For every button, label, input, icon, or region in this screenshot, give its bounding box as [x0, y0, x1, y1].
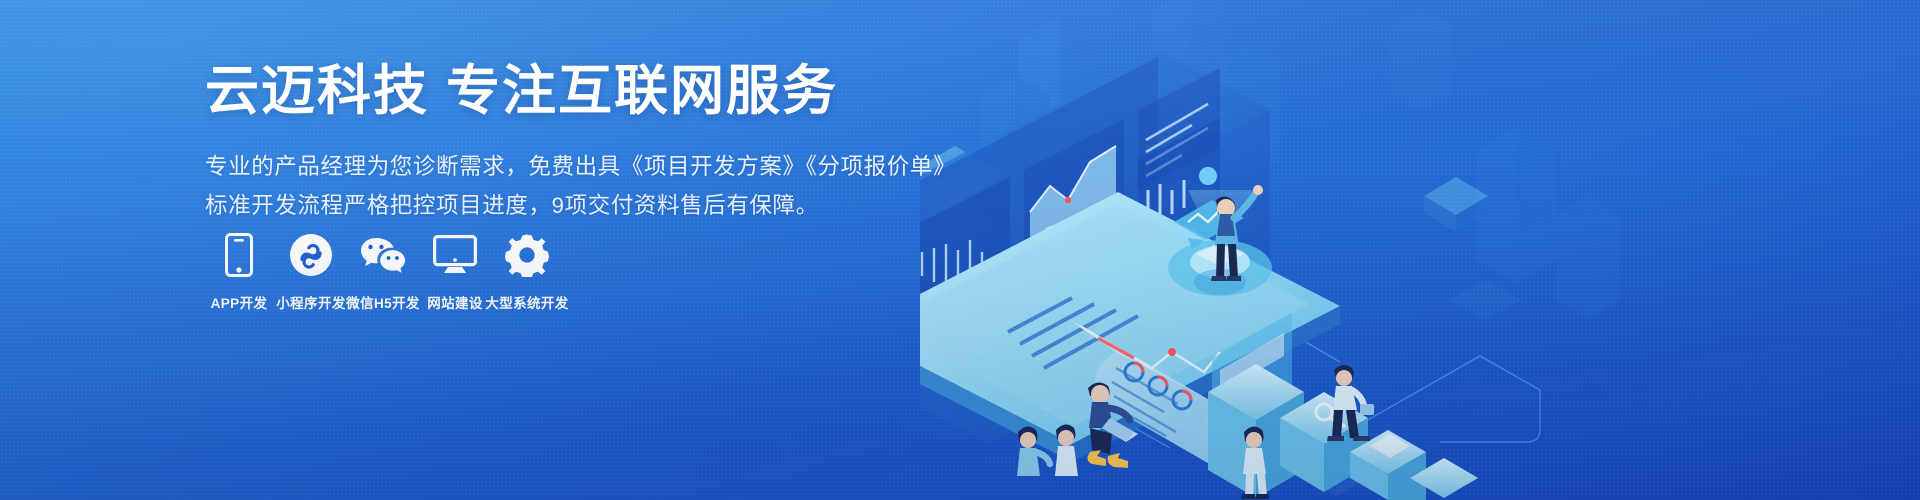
hero-copy: 云迈科技 专注互联网服务 专业的产品经理为您诊断需求，免费出具《项目开发方案》《…	[205, 60, 965, 225]
service-list: APP开发 小程序开发	[203, 232, 563, 312]
hero-banner: 云迈科技 专注互联网服务 专业的产品经理为您诊断需求，免费出具《项目开发方案》《…	[0, 0, 1920, 500]
phone-icon	[225, 232, 253, 278]
service-label: APP开发	[211, 292, 268, 312]
service-label: 网站建设	[427, 292, 483, 312]
subtitle-line-1: 专业的产品经理为您诊断需求，免费出具《项目开发方案》《分项报价单》	[205, 148, 965, 187]
service-item-large-system[interactable]: 大型系统开发	[491, 232, 563, 312]
page-title: 云迈科技 专注互联网服务	[205, 60, 965, 122]
monitor-icon	[433, 232, 477, 278]
gear-icon	[505, 232, 549, 278]
service-item-website[interactable]: 网站建设	[419, 232, 491, 312]
service-label: 微信H5开发	[346, 292, 420, 312]
service-label: 小程序开发	[276, 292, 346, 312]
isometric-tech-illustration	[920, 0, 1920, 500]
service-item-mini-program[interactable]: 小程序开发	[275, 232, 347, 312]
mini-program-icon	[289, 232, 333, 278]
service-item-app[interactable]: APP开发	[203, 232, 275, 312]
wechat-icon	[359, 232, 407, 278]
subtitle-line-2: 标准开发流程严格把控项目进度，9项交付资料售后有保障。	[205, 187, 965, 226]
service-label: 大型系统开发	[485, 292, 568, 312]
service-item-wechat-h5[interactable]: 微信H5开发	[347, 232, 419, 312]
